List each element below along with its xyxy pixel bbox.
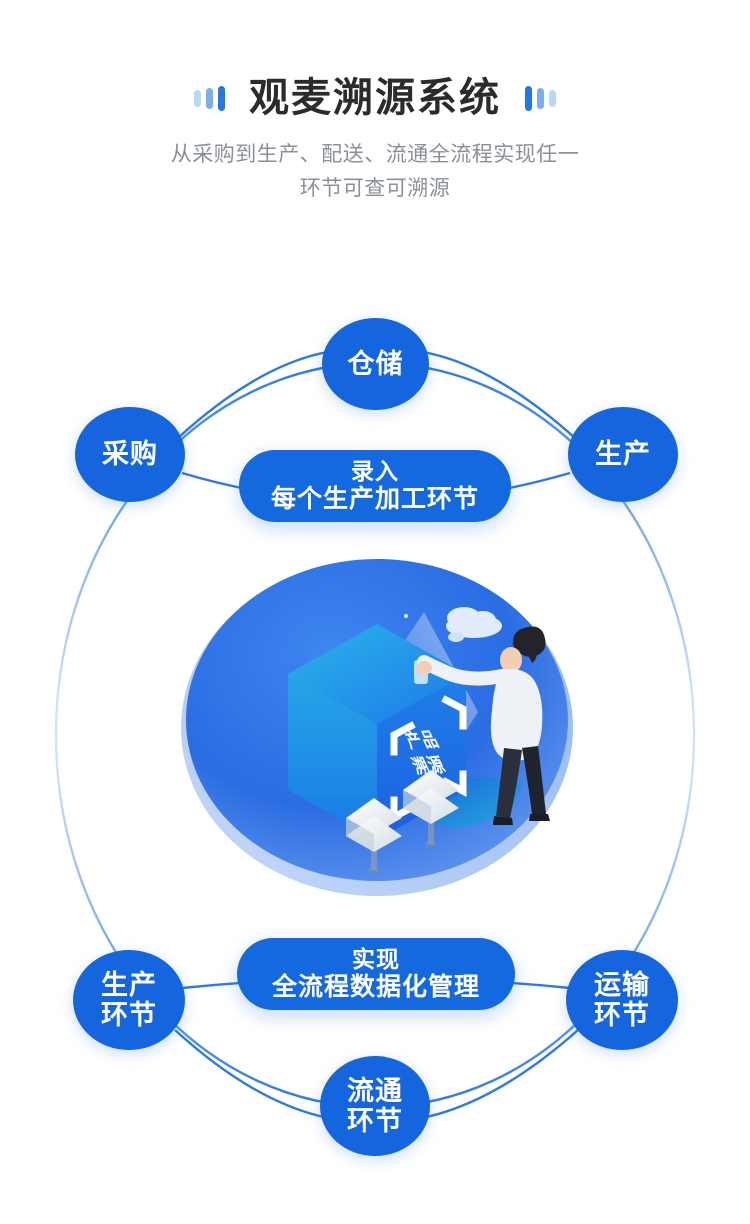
node-production-stage-label: 生产 环节	[101, 970, 157, 1030]
node-purchase[interactable]: 采购	[75, 407, 185, 502]
node-production[interactable]: 生产	[568, 407, 678, 502]
pill-management[interactable]: 实现 全流程数据化管理	[237, 938, 515, 1010]
node-production-stage-line2: 环节	[101, 1000, 157, 1030]
node-circulation-stage-line1: 流通	[347, 1076, 403, 1106]
node-production-stage-line1: 生产	[101, 970, 157, 1000]
node-purchase-label: 采购	[102, 439, 158, 469]
pill-management-line2: 全流程数据化管理	[272, 973, 480, 1003]
pill-management-line1: 实现	[352, 946, 400, 973]
subtitle-line-1: 从采购到生产、配送、流通全流程实现任一	[0, 138, 750, 172]
bars-descending-icon	[525, 83, 556, 113]
node-warehouse[interactable]: 仓储	[322, 318, 429, 410]
node-circulation-stage[interactable]: 流通 环节	[320, 1056, 430, 1156]
pill-entry-line2: 每个生产加工环节	[271, 485, 479, 515]
page-title: 观麦溯源系统	[249, 78, 501, 118]
node-production-stage[interactable]: 生产 环节	[73, 950, 185, 1050]
page-subtitle: 从采购到生产、配送、流通全流程实现任一 环节可查可溯源	[0, 138, 750, 206]
traceability-diagram: 产品 溯源	[0, 288, 750, 1188]
node-circulation-stage-label: 流通 环节	[347, 1076, 403, 1136]
node-transport-stage-line2: 环节	[594, 1000, 650, 1030]
subtitle-line-2: 环节可查可溯源	[0, 172, 750, 206]
pill-entry-line1: 录入	[351, 458, 399, 485]
pill-entry[interactable]: 录入 每个生产加工环节	[239, 450, 511, 522]
node-warehouse-label: 仓储	[348, 349, 404, 379]
sparkle-dot	[404, 614, 408, 618]
product-traceability-illustration: 产品 溯源	[178, 552, 576, 898]
title-row: 观麦溯源系统	[0, 78, 750, 118]
node-transport-stage-label: 运输 环节	[594, 970, 650, 1030]
node-circulation-stage-line2: 环节	[347, 1106, 403, 1136]
node-production-label: 生产	[595, 439, 651, 469]
node-transport-stage[interactable]: 运输 环节	[566, 950, 678, 1050]
bars-ascending-icon	[194, 83, 225, 113]
node-transport-stage-line1: 运输	[594, 970, 650, 1000]
page-header: 观麦溯源系统 从采购到生产、配送、流通全流程实现任一 环节可查可溯源	[0, 0, 750, 206]
